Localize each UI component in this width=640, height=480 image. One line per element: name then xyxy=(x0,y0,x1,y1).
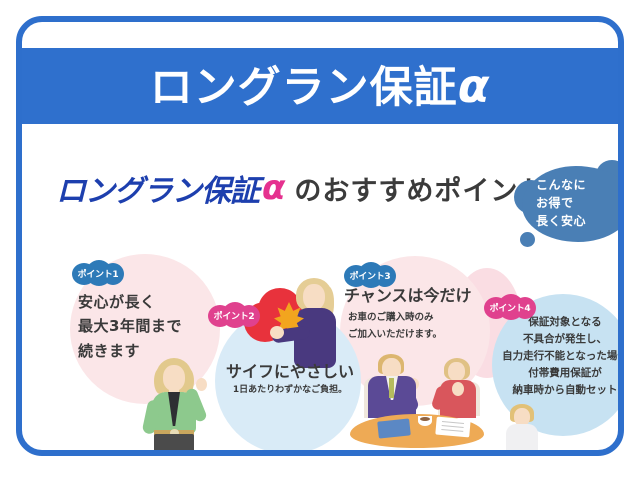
subtitle-alpha: α xyxy=(259,168,288,208)
speech-bubble-text: こんなに お得で 長く安心 xyxy=(536,176,586,231)
point-4-line-3: 自力走行不能となった場合 xyxy=(490,348,624,365)
subtitle-rest: のおすすめポイント xyxy=(288,169,546,208)
point-4-line-2: 不具合が発生し、 xyxy=(490,331,624,348)
speech-bubble: こんなに お得で 長く安心 xyxy=(522,166,624,242)
point-2-badge-label: ポイント2 xyxy=(208,302,260,328)
title-band: ロングラン保証α xyxy=(22,48,618,124)
poster-screen: ロングラン保証α ロングラン保証αのおすすめポイント こんなに お得で 長く安心… xyxy=(0,0,640,480)
page-title-main: ロングラン保証 xyxy=(150,63,458,113)
poster-frame: ロングラン保証α ロングラン保証αのおすすめポイント こんなに お得で 長く安心… xyxy=(16,16,624,456)
point-4-line-5: 納車時から自動セット xyxy=(490,382,624,399)
point-4-illustration-person xyxy=(500,404,544,450)
point-4-badge: ポイント4 xyxy=(484,294,536,320)
point-3-badge: ポイント3 xyxy=(344,262,396,288)
page-title: ロングラン保証α xyxy=(150,63,491,110)
point-1-text: 安心が長く 最大3年間まで 続きます xyxy=(78,290,228,363)
point-4-line-4: 付帯費用保証が xyxy=(490,365,624,382)
speech-bubble-line-2: お得で xyxy=(536,194,586,212)
page-title-alpha: α xyxy=(458,59,491,113)
subtitle-brand: ロングラン保証 xyxy=(56,166,259,210)
point-1-line-2: 最大3年間まで xyxy=(78,314,228,338)
point-1-illustration-woman xyxy=(140,358,210,450)
point-2-illustration-woman-heart xyxy=(248,278,340,370)
point-3-illustration-couple xyxy=(342,352,492,448)
point-3-subtext-line-2: ご加入いただけます。 xyxy=(348,327,508,344)
point-1-badge-label: ポイント1 xyxy=(72,260,124,286)
subtitle-row: ロングラン保証αのおすすめポイント xyxy=(56,162,526,214)
speech-bubble-line-1: こんなに xyxy=(536,176,586,194)
speech-bubble-tail xyxy=(520,232,535,247)
point-4-text: 保証対象となる 不具合が発生し、 自力走行不能となった場合 付帯費用保証が 納車… xyxy=(490,314,624,399)
point-1-badge: ポイント1 xyxy=(72,260,124,286)
point-3-badge-label: ポイント3 xyxy=(344,262,396,288)
point-1-line-1: 安心が長く xyxy=(78,290,228,314)
speech-bubble-line-3: 長く安心 xyxy=(536,212,586,230)
point-2-badge: ポイント2 xyxy=(208,302,260,328)
point-4-badge-label: ポイント4 xyxy=(484,294,536,320)
